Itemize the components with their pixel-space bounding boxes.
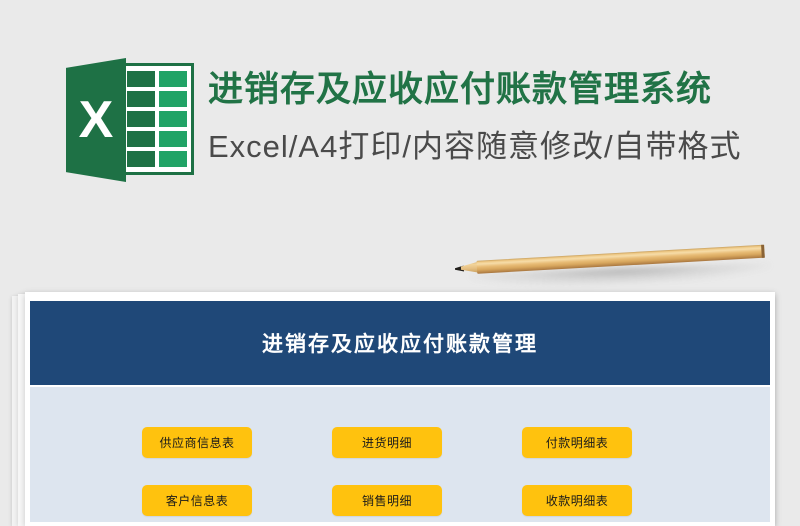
supplier-info-button[interactable]: 供应商信息表 bbox=[142, 427, 252, 458]
receipt-detail-button[interactable]: 收款明细表 bbox=[522, 485, 632, 516]
payment-detail-button[interactable]: 付款明细表 bbox=[522, 427, 632, 458]
excel-logo: X bbox=[66, 58, 194, 182]
banner-title: 进销存及应收应付账款管理系统 bbox=[208, 72, 712, 109]
excel-logo-grid bbox=[123, 66, 191, 172]
customer-info-button[interactable]: 客户信息表 bbox=[142, 485, 252, 516]
sheet-header-title: 进销存及应收应付账款管理 bbox=[262, 328, 538, 358]
spreadsheet-preview-card: 进销存及应收应付账款管理 供应商信息表 进货明细 付款明细表 客户信息表 销售明… bbox=[25, 292, 775, 526]
sheet-navigation-grid: 供应商信息表 进货明细 付款明细表 客户信息表 销售明细 收款明细表 bbox=[142, 427, 702, 516]
sheet-body: 供应商信息表 进货明细 付款明细表 客户信息表 销售明细 收款明细表 bbox=[30, 387, 770, 522]
purchase-detail-button[interactable]: 进货明细 bbox=[332, 427, 442, 458]
promo-banner: X 进销存及应收应付账款管理系统 Excel/A4打印/内容随意修改/自带格式 bbox=[0, 0, 800, 250]
sheet-header-bar: 进销存及应收应付账款管理 bbox=[30, 301, 770, 385]
banner-subtitle: Excel/A4打印/内容随意修改/自带格式 bbox=[208, 131, 742, 164]
excel-logo-letter: X bbox=[66, 58, 126, 182]
screenshot-stage: X 进销存及应收应付账款管理系统 Excel/A4打印/内容随意修改/自带格式 … bbox=[0, 0, 800, 526]
sales-detail-button[interactable]: 销售明细 bbox=[332, 485, 442, 516]
